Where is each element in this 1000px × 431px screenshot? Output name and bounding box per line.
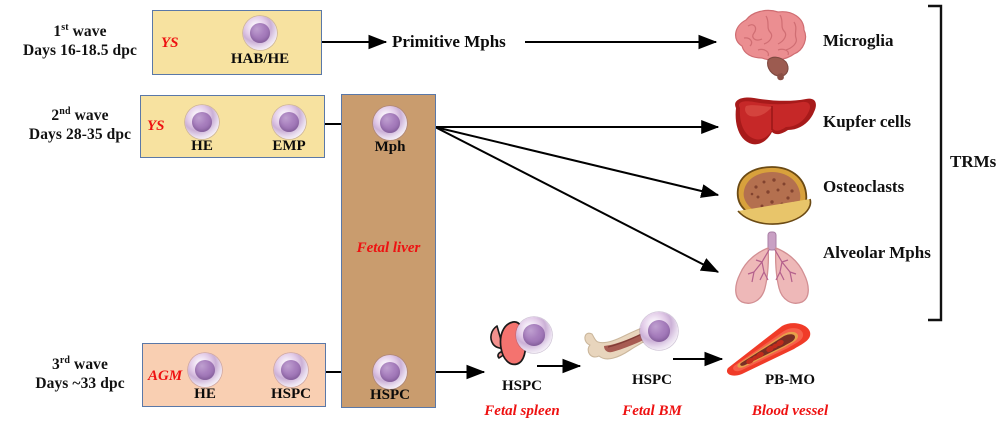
cell-he-wave2 xyxy=(185,105,219,139)
cell-hab-he xyxy=(243,16,277,50)
cell-hspc-spleen xyxy=(516,317,552,353)
trms-bracket xyxy=(928,6,941,320)
cell-hspc-agm xyxy=(274,353,308,387)
organ-name-microglia: Microglia xyxy=(823,31,894,51)
agm-tag: AGM xyxy=(148,368,182,385)
wave3-ordinal-suffix: rd xyxy=(60,355,70,366)
wave1-word: wave xyxy=(73,23,107,40)
cell-hspc-bm xyxy=(640,312,678,350)
blood-vessel-icon xyxy=(722,322,814,376)
cell-label-pb-mo: PB-MO xyxy=(765,372,815,389)
fetal-liver-tag: Fetal liver xyxy=(357,240,421,257)
cell-label-hspc-spleen: HSPC xyxy=(502,378,542,395)
cell-emp xyxy=(272,105,306,139)
wave1-ordinal-suffix: st xyxy=(61,22,68,33)
wave2-word: wave xyxy=(75,107,109,124)
trms-label: TRMs xyxy=(950,152,996,172)
figure-canvas: 1st wave Days 16-18.5 dpc YS HAB/HE Prim… xyxy=(0,0,1000,431)
organ-name-alveolar: Alveolar Mphs xyxy=(823,243,931,263)
cell-label-he-wave2: HE xyxy=(191,138,213,155)
liver-icon xyxy=(728,92,820,158)
organ-name-osteoclasts: Osteoclasts xyxy=(823,177,904,197)
arrow-mph-to-bone xyxy=(435,127,718,195)
bone-icon xyxy=(728,163,820,229)
wave3-days: Days ~33 dpc xyxy=(35,375,124,392)
cell-he-wave3 xyxy=(188,353,222,387)
wave1-caption: 1st wave Days 16-18.5 dpc xyxy=(10,22,150,61)
cell-label-he-wave3: HE xyxy=(194,386,216,403)
cell-label-emp: EMP xyxy=(272,138,305,155)
ys-tag-wave1: YS xyxy=(161,35,179,52)
wave3-ordinal: 3 xyxy=(52,356,60,373)
ys-tag-wave2: YS xyxy=(147,118,165,135)
primitive-mphs-label: Primitive Mphs xyxy=(392,32,506,52)
brain-icon xyxy=(722,6,814,82)
wave2-ordinal-suffix: nd xyxy=(59,106,70,117)
cell-hspc-liver xyxy=(373,355,407,389)
cell-label-mph: Mph xyxy=(375,139,406,156)
cell-label-hspc-agm: HSPC xyxy=(271,386,311,403)
cell-label-hab-he: HAB/HE xyxy=(231,51,289,68)
blood-vessel-label: Blood vessel xyxy=(752,403,828,420)
organ-name-kupfer: Kupfer cells xyxy=(823,112,911,132)
fetal-spleen-label: Fetal spleen xyxy=(484,403,559,420)
cell-label-hspc-bm: HSPC xyxy=(632,372,672,389)
lung-icon xyxy=(724,228,820,308)
wave3-word: wave xyxy=(74,356,108,373)
wave2-days: Days 28-35 dpc xyxy=(29,126,131,143)
fetal-bm-label: Fetal BM xyxy=(622,403,682,420)
arrow-mph-to-lung xyxy=(435,127,718,272)
cell-label-hspc-liver: HSPC xyxy=(370,387,410,404)
wave2-caption: 2nd wave Days 28-35 dpc xyxy=(10,106,150,145)
wave3-caption: 3rd wave Days ~33 dpc xyxy=(10,355,150,394)
cell-mph xyxy=(373,106,407,140)
wave1-days: Days 16-18.5 dpc xyxy=(23,42,137,59)
